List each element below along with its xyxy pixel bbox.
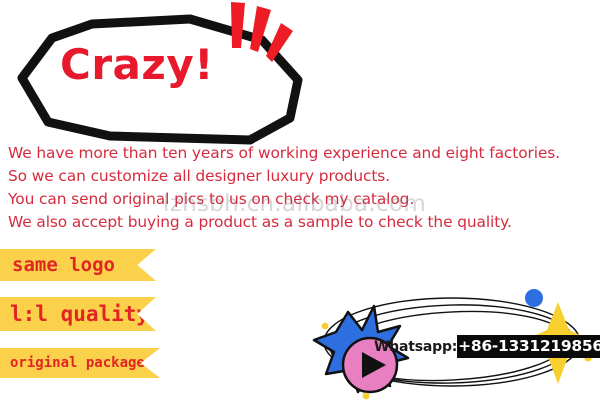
whatsapp-label: Whatsapp: — [374, 339, 457, 355]
headline-text: Crazy! — [60, 44, 214, 86]
body-line-1: We have more than ten years of working e… — [8, 142, 598, 165]
headline-bubble: Crazy! — [0, 0, 310, 150]
body-line-2: So we can customize all designer luxury … — [8, 165, 598, 188]
promo-banner-canvas: Crazy! We have more than ten years of wo… — [0, 0, 600, 400]
whatsapp-number[interactable]: +86-13312198565 — [457, 335, 600, 358]
yellow-dot-icon-left — [322, 323, 329, 330]
yellow-dot-icon-bottom — [363, 393, 370, 400]
ribbon-label: original package — [10, 355, 145, 371]
contact-group: Whatsapp: +86-13312198565 — [300, 282, 600, 400]
ribbon-original-package: original package — [0, 348, 160, 378]
body-line-4: We also accept buying a product as a sam… — [8, 211, 598, 234]
whatsapp-line: Whatsapp: +86-13312198565 — [374, 335, 600, 358]
ribbon-label: same logo — [12, 254, 115, 276]
body-line-3: You can send original pics to us on chec… — [8, 188, 598, 211]
body-paragraph: We have more than ten years of working e… — [8, 142, 598, 234]
ribbon-quality: l:l quality — [0, 297, 156, 331]
ribbon-same-logo: same logo — [0, 249, 156, 281]
ribbon-label: l:l quality — [10, 302, 149, 326]
blue-dot-icon — [525, 289, 543, 307]
